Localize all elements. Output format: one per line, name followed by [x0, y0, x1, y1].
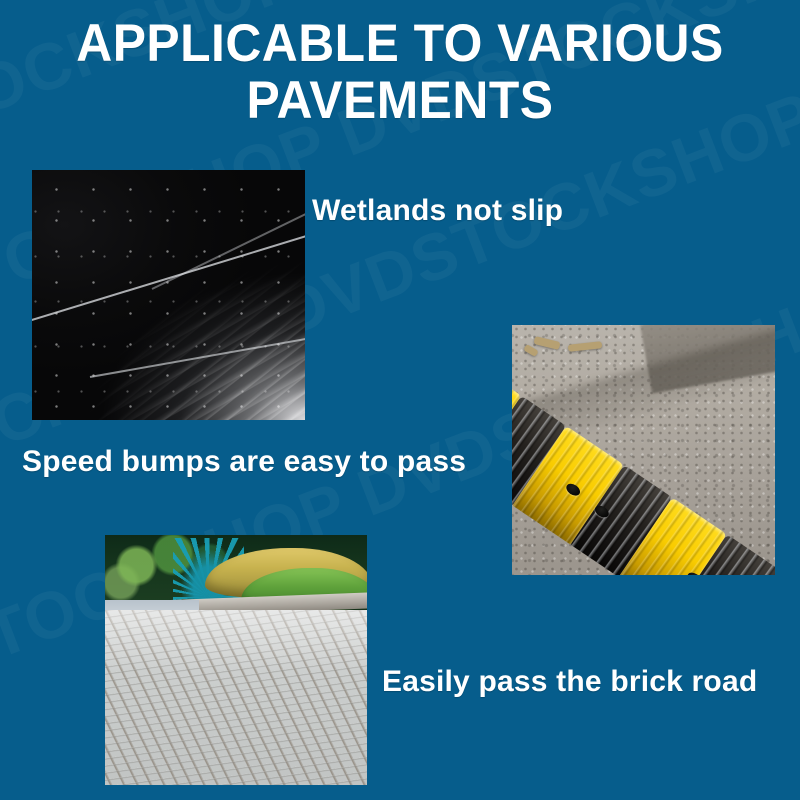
brick-road-photo — [105, 535, 367, 785]
brick-pavement-ground — [105, 610, 367, 785]
page-title: APPLICABLE TO VARIOUS PAVEMENTS — [0, 16, 800, 129]
caption-easily-pass-brick-road: Easily pass the brick road — [382, 665, 757, 699]
poster-root: DVDSTOCKSHOP DVDSTOCKSHOP DVDSTOCKSHOP D… — [0, 0, 800, 800]
page-title-line-2: PAVEMENTS — [24, 73, 776, 130]
caption-speed-bumps-easy-to-pass: Speed bumps are easy to pass — [22, 445, 466, 479]
wet-asphalt-photo — [32, 170, 305, 420]
caption-wetlands-not-slip: Wetlands not slip — [312, 194, 563, 228]
speed-bump-photo — [512, 325, 775, 575]
pavement-highlight-haze — [105, 610, 367, 785]
water-droplet-speckles — [32, 170, 305, 420]
page-title-line-1: APPLICABLE TO VARIOUS — [24, 16, 776, 73]
